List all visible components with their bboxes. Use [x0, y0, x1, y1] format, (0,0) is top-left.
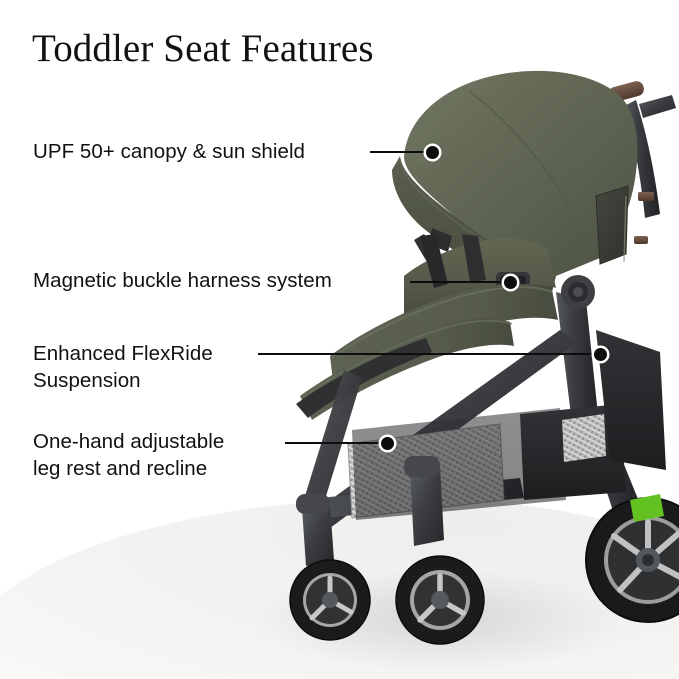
callout-line-suspension: [258, 353, 600, 355]
product-feature-diagram: Toddler Seat Features UPF 50+ canopy & s…: [0, 0, 679, 679]
feature-label-suspension: Enhanced FlexRide Suspension: [33, 340, 213, 394]
callout-line-harness: [410, 281, 510, 283]
feature-label-canopy: UPF 50+ canopy & sun shield: [33, 138, 305, 165]
page-title: Toddler Seat Features: [32, 26, 374, 71]
seat-assembly: [296, 228, 558, 420]
callout-dot-suspension[interactable]: [594, 348, 607, 361]
callout-line-legrest: [285, 442, 387, 444]
callout-dot-legrest[interactable]: [381, 437, 394, 450]
rear-wheel: [586, 494, 679, 622]
feature-label-legrest: One-hand adjustable leg rest and recline: [33, 428, 224, 482]
callout-dot-canopy[interactable]: [426, 146, 439, 159]
callout-dot-harness[interactable]: [504, 276, 517, 289]
feature-label-harness: Magnetic buckle harness system: [33, 267, 332, 294]
callout-line-canopy: [370, 151, 432, 153]
